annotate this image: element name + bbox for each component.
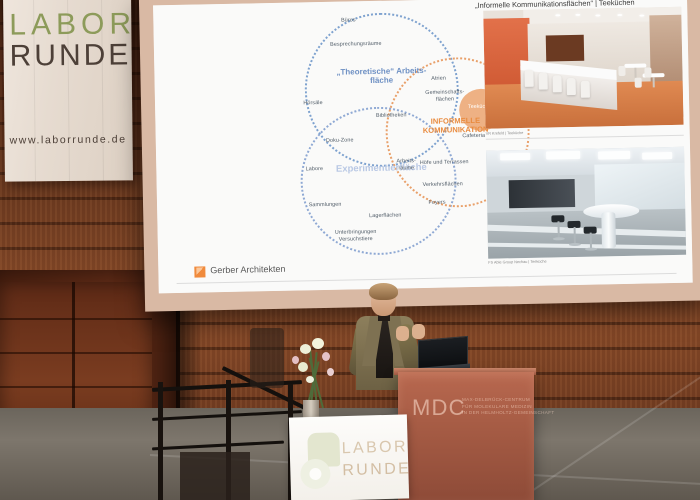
venn-item: Höfe und Terrassen	[420, 159, 469, 167]
sign-line1: LABOR	[342, 438, 409, 458]
railing-post	[158, 382, 163, 500]
lectern-labor-runde-sign: LABOR RUNDE	[289, 414, 409, 500]
venn-item: Lagerflächen	[369, 212, 402, 219]
venn-item: Labore	[306, 166, 324, 173]
gerber-logo-icon	[194, 266, 205, 277]
sign-line2: RUNDE	[342, 460, 411, 480]
venn-item: Atrien	[431, 76, 446, 83]
banner-line1: LABOR	[9, 7, 136, 42]
venn-item: Unterbringungen Versuchstiere	[335, 229, 377, 243]
presentation-photo: LABOR RUNDE www.laborrunde.de „Theoretis…	[0, 0, 700, 500]
venn-item: Arbeits- räume	[396, 158, 416, 172]
venn-item: Bibliotheken	[376, 112, 407, 119]
venn-label-theoretisch: „Theoretische“ Arbeits- fläche	[316, 66, 446, 87]
door-groove	[0, 318, 152, 320]
mdc-subtitle: MAX-DELBRÜCK-CENTRUM FÜR MOLEKULARE MEDI…	[462, 397, 555, 417]
presentation-slide: „Theoretische“ Arbeits- fläche Experimen…	[153, 0, 693, 293]
photo-caption-1: VR Krefeld | Teeküche	[486, 131, 524, 136]
venn-item: Foyers	[428, 200, 445, 207]
photo-caption-2: FS Able Group Nechau | Teeküche	[488, 260, 546, 265]
speaker-hair	[369, 283, 398, 300]
speaker-hand-right	[412, 324, 425, 339]
speaker-hand-left	[396, 326, 409, 341]
venn-item: Hörsäle	[303, 100, 322, 107]
venn-item: Gemeinschafts- flächen	[425, 89, 464, 103]
venn-item: Besprechungsräume	[330, 41, 382, 49]
slide-footer-logo-text: Gerber Architekten	[210, 264, 285, 276]
labor-runde-logo-icon	[299, 432, 340, 487]
background-chair	[250, 328, 284, 388]
venn-item: Cafeteria	[462, 133, 485, 140]
venn-item: Büros	[341, 17, 356, 24]
venn-item: Verkehrsflächen	[423, 181, 463, 189]
mdc-subtitle-line3: IN DER HELMHOLTZ-GEMEINSCHAFT	[462, 410, 555, 417]
dark-seating-row	[180, 452, 250, 500]
banner-url: www.laborrunde.de	[9, 133, 126, 146]
slide-photo-teekueche-corridor	[486, 147, 686, 259]
lectern: MDC MAX-DELBRÜCK-CENTRUM FÜR MOLEKULARE …	[398, 372, 534, 500]
door-groove	[0, 386, 152, 388]
mdc-subtitle-line2: FÜR MOLEKULARE MEDIZIN	[462, 404, 555, 411]
door-groove	[0, 352, 152, 354]
slide-photo-teekueche-krefeld	[483, 7, 683, 129]
screen-surface: „Theoretische“ Arbeits- fläche Experimen…	[153, 0, 693, 293]
mdc-acronym: MDC	[412, 395, 466, 421]
projection-screen: „Theoretische“ Arbeits- fläche Experimen…	[139, 0, 700, 312]
venn-item: Sammlungen	[309, 202, 342, 209]
labor-runde-banner: LABOR RUNDE www.laborrunde.de	[3, 0, 133, 182]
mdc-subtitle-line1: MAX-DELBRÜCK-CENTRUM	[462, 397, 555, 404]
banner-line2: RUNDE	[9, 38, 131, 73]
slide-footer-divider	[177, 273, 677, 284]
venn-item: Doku-Zone	[326, 137, 354, 144]
